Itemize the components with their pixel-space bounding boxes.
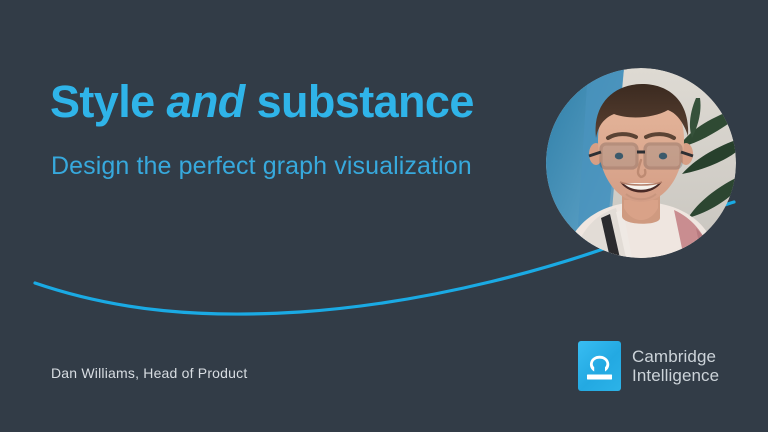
presentation-slide: Style and substance Design the perfect g… xyxy=(0,0,768,432)
title-part-1: Style xyxy=(50,76,166,127)
title-part-2: substance xyxy=(245,76,474,127)
title-emphasis: and xyxy=(166,76,244,127)
cambridge-intelligence-mark-icon xyxy=(578,341,621,391)
logo-word-line-2: Intelligence xyxy=(632,366,719,385)
speaker-byline: Dan Williams, Head of Product xyxy=(51,364,247,382)
cambridge-intelligence-logo: Cambridge Intelligence xyxy=(578,341,719,391)
logo-wordmark: Cambridge Intelligence xyxy=(632,347,719,385)
logo-word-line-1: Cambridge xyxy=(632,347,719,366)
avatar xyxy=(546,68,736,258)
page-subtitle: Design the perfect graph visualization xyxy=(51,150,472,182)
page-title: Style and substance xyxy=(50,76,474,128)
avatar-photo xyxy=(546,68,736,258)
